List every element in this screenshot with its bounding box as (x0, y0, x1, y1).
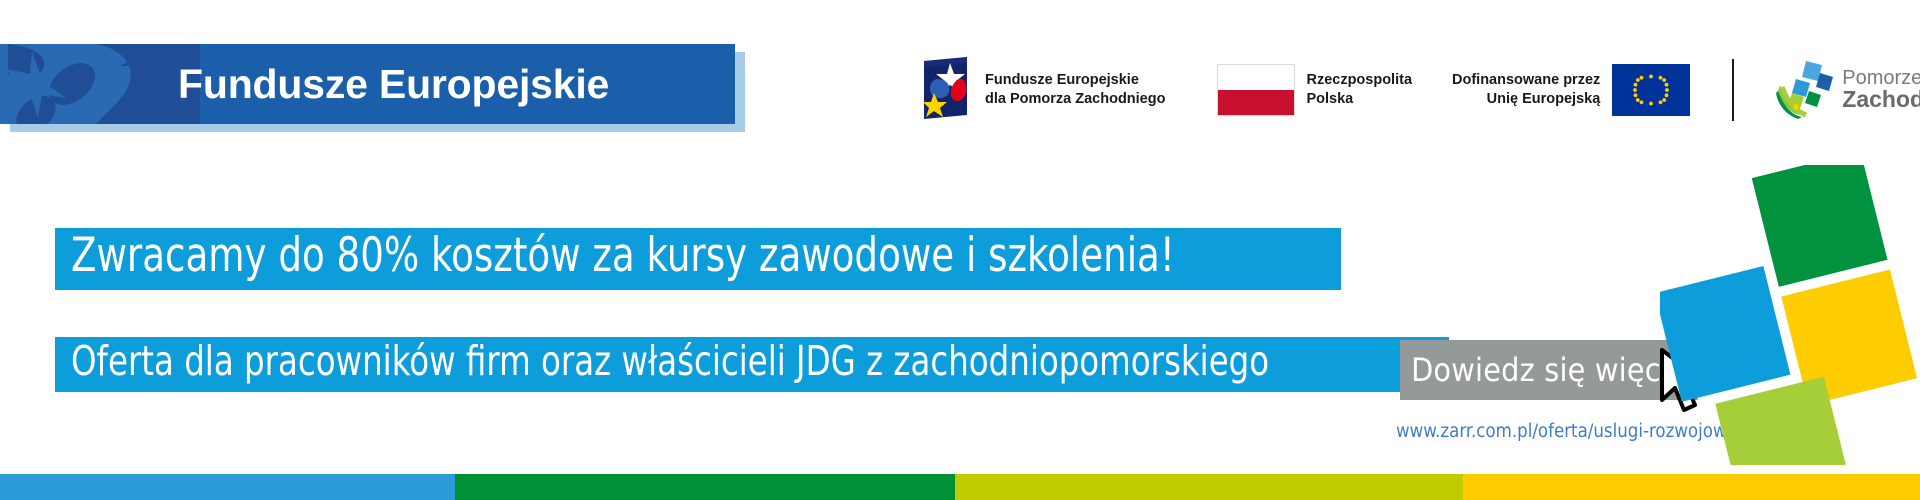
logo-line-1: Dofinansowane przez (1452, 72, 1600, 88)
logo-band: Fundusze Europejskie Fundusze Europejski… (0, 0, 1920, 160)
segment-green (455, 474, 955, 500)
logo-line-1: Fundusze Europejskie (985, 72, 1139, 88)
logo-line-1: Pomorze (1842, 68, 1920, 88)
poland-flag-icon (1217, 64, 1295, 116)
logo-line-2: Polska (1306, 91, 1353, 107)
subheadline-text: Oferta dla pracowników firm oraz właścic… (71, 340, 1269, 383)
logo-fundusze-europejskie: Fundusze Europejskie dla Pomorza Zachodn… (920, 57, 1165, 124)
logo-line-2: dla Pomorza Zachodniego (985, 91, 1165, 107)
logo-dofinansowane-label: Dofinansowane przez Unię Europejską (1452, 71, 1600, 109)
logo-dofinansowane-przez-ue: Dofinansowane przez Unię Europejską (1452, 64, 1690, 116)
footer-color-bar (0, 474, 1920, 500)
eu-funds-emblem-icon (920, 57, 974, 124)
logo-rzeczpospolita-polska: Rzeczpospolita Polska (1217, 64, 1412, 116)
eu-flag-icon (1612, 64, 1690, 116)
segment-gold (1463, 474, 1920, 500)
headline-highlight-band: Zwracamy do 80% kosztów za kursy zawodow… (55, 228, 1341, 290)
logo-line-2: Zachodnie (1842, 88, 1920, 111)
subheadline-highlight-band: Oferta dla pracowników firm oraz właścic… (55, 337, 1449, 392)
pomorze-zachodnie-mark-icon (1776, 57, 1834, 124)
square-green (1752, 165, 1888, 287)
brand-bar-title: Fundusze Europejskie (178, 44, 609, 124)
logo-pomorze-zachodnie: Pomorze Zachodnie (1776, 57, 1920, 124)
logo-line-2: Unię Europejską (1487, 91, 1601, 107)
logo-fundusze-europejskie-label: Fundusze Europejskie dla Pomorza Zachodn… (985, 71, 1165, 109)
logo-rzeczpospolita-label: Rzeczpospolita Polska (1306, 71, 1412, 109)
square-gold (1781, 269, 1917, 405)
segment-blue (0, 474, 455, 500)
fundusze-europejskie-brand-bar: Fundusze Europejskie (0, 44, 735, 124)
star-pattern-decoration (0, 44, 200, 124)
segment-lime (955, 474, 1463, 500)
offer-url-link[interactable]: www.zarr.com.pl/oferta/uslugi-rozwojowe-… (1396, 421, 1706, 442)
logo-line-1: Rzeczpospolita (1306, 72, 1412, 88)
eu-funding-logo-strip: Fundusze Europejskie dla Pomorza Zachodn… (920, 55, 1920, 125)
learn-more-button[interactable]: Dowiedz się więcej (1400, 340, 1698, 400)
vertical-divider (1732, 59, 1734, 121)
pomorze-zachodnie-label: Pomorze Zachodnie (1842, 68, 1920, 112)
decorative-squares (1660, 165, 1920, 465)
headline-text: Zwracamy do 80% kosztów za kursy zawodow… (71, 231, 1175, 281)
